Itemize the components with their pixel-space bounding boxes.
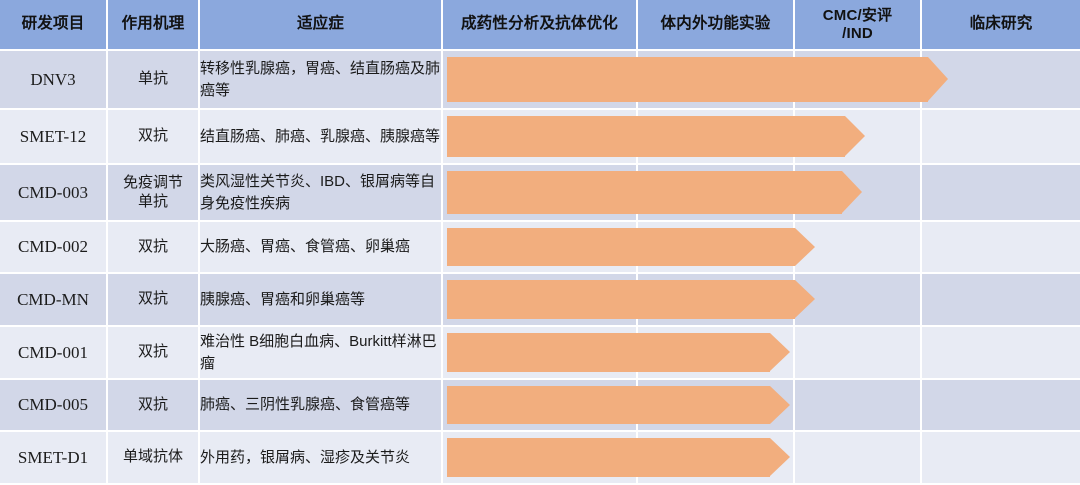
cell-mechanism-line1: 免疫调节 — [123, 174, 183, 191]
col-header-stage-druggability: 成药性分析及抗体优化 — [443, 0, 638, 51]
cell-stage-cmc-ind — [795, 165, 922, 222]
table-row: CMD-002 双抗 大肠癌、胃癌、食管癌、卵巢癌 — [0, 222, 1080, 274]
cell-stage-clinical — [922, 51, 1080, 110]
cell-indication: 肺癌、三阴性乳腺癌、食管癌等 — [200, 380, 443, 432]
col-header-indication: 适应症 — [200, 0, 443, 51]
cell-stage-cmc-ind — [795, 110, 922, 165]
cell-stage-clinical — [922, 222, 1080, 274]
cell-stage-cmc-ind — [795, 222, 922, 274]
cell-stage-clinical — [922, 165, 1080, 222]
cell-project: CMD-001 — [0, 327, 108, 380]
cell-stage-druggability — [443, 222, 638, 274]
cell-mechanism: 双抗 — [108, 110, 200, 165]
cell-stage-clinical — [922, 274, 1080, 327]
cell-stage-functional-assay — [638, 51, 795, 110]
table-body: DNV3 单抗 转移性乳腺癌，胃癌、结直肠癌及肺癌等 SMET-12 双抗 结直… — [0, 51, 1080, 485]
cell-stage-functional-assay — [638, 110, 795, 165]
cell-mechanism: 双抗 — [108, 274, 200, 327]
col-header-cmc-line1: CMC/安评 — [823, 7, 893, 24]
cell-stage-cmc-ind — [795, 432, 922, 485]
cell-indication: 转移性乳腺癌，胃癌、结直肠癌及肺癌等 — [200, 51, 443, 110]
cell-indication: 结直肠癌、肺癌、乳腺癌、胰腺癌等 — [200, 110, 443, 165]
col-header-stage-cmc-ind: CMC/安评/IND — [795, 0, 922, 51]
table-header-row: 研发项目 作用机理 适应症 成药性分析及抗体优化 体内外功能实验 CMC/安评/… — [0, 0, 1080, 51]
table-row: CMD-MN 双抗 胰腺癌、胃癌和卵巢癌等 — [0, 274, 1080, 327]
col-header-mechanism: 作用机理 — [108, 0, 200, 51]
cell-project: CMD-003 — [0, 165, 108, 222]
col-header-cmc-line2: /IND — [842, 25, 873, 42]
cell-stage-functional-assay — [638, 222, 795, 274]
col-header-stage-clinical: 临床研究 — [922, 0, 1080, 51]
cell-indication: 胰腺癌、胃癌和卵巢癌等 — [200, 274, 443, 327]
cell-mechanism: 单抗 — [108, 51, 200, 110]
cell-stage-cmc-ind — [795, 274, 922, 327]
cell-stage-druggability — [443, 380, 638, 432]
cell-mechanism: 单域抗体 — [108, 432, 200, 485]
cell-indication: 难治性 B细胞白血病、Burkitt样淋巴瘤 — [200, 327, 443, 380]
cell-project: SMET-D1 — [0, 432, 108, 485]
cell-stage-cmc-ind — [795, 380, 922, 432]
cell-stage-clinical — [922, 432, 1080, 485]
cell-stage-druggability — [443, 51, 638, 110]
cell-stage-clinical — [922, 110, 1080, 165]
cell-stage-functional-assay — [638, 274, 795, 327]
cell-stage-druggability — [443, 110, 638, 165]
cell-stage-druggability — [443, 432, 638, 485]
cell-project: CMD-002 — [0, 222, 108, 274]
cell-stage-functional-assay — [638, 165, 795, 222]
cell-project: SMET-12 — [0, 110, 108, 165]
table-row: SMET-D1 单域抗体 外用药，银屑病、湿疹及关节炎 — [0, 432, 1080, 485]
cell-stage-druggability — [443, 165, 638, 222]
cell-stage-druggability — [443, 274, 638, 327]
table-row: DNV3 单抗 转移性乳腺癌，胃癌、结直肠癌及肺癌等 — [0, 51, 1080, 110]
cell-indication: 类风湿性关节炎、IBD、银屑病等自身免疫性疾病 — [200, 165, 443, 222]
cell-mechanism-line2: 单抗 — [138, 193, 168, 210]
cell-project: DNV3 — [0, 51, 108, 110]
cell-stage-clinical — [922, 380, 1080, 432]
table-row: CMD-001 双抗 难治性 B细胞白血病、Burkitt样淋巴瘤 — [0, 327, 1080, 380]
cell-indication: 大肠癌、胃癌、食管癌、卵巢癌 — [200, 222, 443, 274]
pipeline-grid: 研发项目 作用机理 适应症 成药性分析及抗体优化 体内外功能实验 CMC/安评/… — [0, 0, 1080, 485]
cell-mechanism: 免疫调节单抗 — [108, 165, 200, 222]
pipeline-table: 研发项目 作用机理 适应症 成药性分析及抗体优化 体内外功能实验 CMC/安评/… — [0, 0, 1080, 485]
cell-stage-cmc-ind — [795, 51, 922, 110]
cell-mechanism: 双抗 — [108, 222, 200, 274]
cell-stage-druggability — [443, 327, 638, 380]
cell-stage-clinical — [922, 327, 1080, 380]
cell-stage-functional-assay — [638, 327, 795, 380]
cell-indication: 外用药，银屑病、湿疹及关节炎 — [200, 432, 443, 485]
cell-stage-cmc-ind — [795, 327, 922, 380]
table-row: CMD-005 双抗 肺癌、三阴性乳腺癌、食管癌等 — [0, 380, 1080, 432]
col-header-stage-functional-assay: 体内外功能实验 — [638, 0, 795, 51]
table-row: SMET-12 双抗 结直肠癌、肺癌、乳腺癌、胰腺癌等 — [0, 110, 1080, 165]
cell-mechanism: 双抗 — [108, 380, 200, 432]
table-row: CMD-003 免疫调节单抗 类风湿性关节炎、IBD、银屑病等自身免疫性疾病 — [0, 165, 1080, 222]
col-header-project: 研发项目 — [0, 0, 108, 51]
cell-project: CMD-MN — [0, 274, 108, 327]
cell-stage-functional-assay — [638, 380, 795, 432]
cell-mechanism: 双抗 — [108, 327, 200, 380]
cell-project: CMD-005 — [0, 380, 108, 432]
cell-stage-functional-assay — [638, 432, 795, 485]
